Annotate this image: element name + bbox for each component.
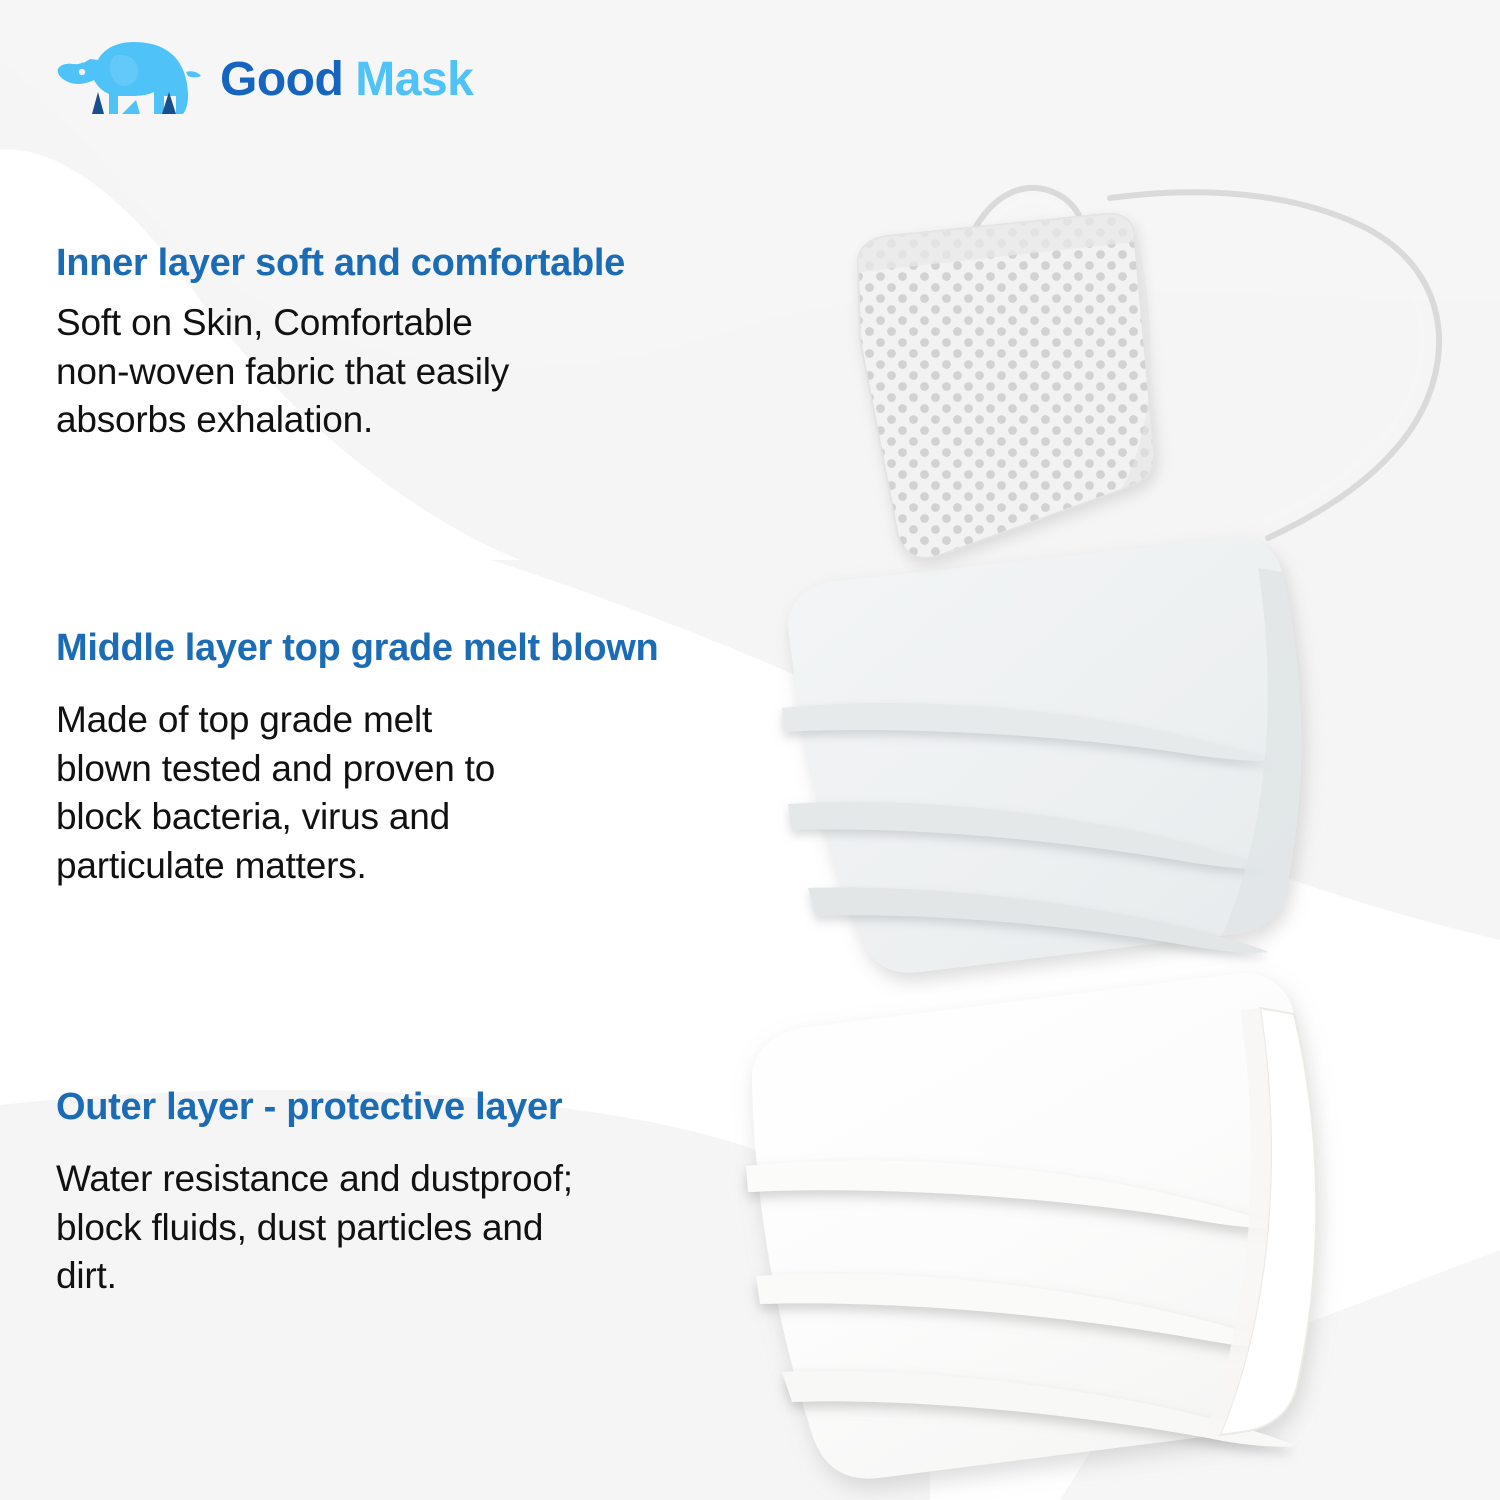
body-line: Water resistance and dustproof; [56,1155,696,1204]
section-body-inner: Soft on Skin, Comfortable non-woven fabr… [56,299,696,445]
outer-layer-mask [700,960,1400,1500]
inner-layer-mask [820,150,1500,620]
outer-mask-side-strip [1220,1008,1316,1435]
body-line: absorbs exhalation. [56,396,696,445]
bg-white-band [0,460,1500,1500]
section-body-outer: Water resistance and dustproof; block fl… [56,1155,696,1301]
inner-mask-top-edge [858,214,1134,272]
outer-mask-pleat-3 [782,1371,1296,1447]
elephant-icon [52,34,202,126]
inner-mask-side-panel [1120,232,1154,491]
infographic-page: GoodMask [0,0,1500,1500]
section-title-outer: Outer layer - protective layer [56,1087,776,1129]
ear-loop-right-outer [1110,192,1439,538]
body-line: block bacteria, virus and [56,793,696,842]
middle-layer-mask [760,520,1400,1040]
section-title-inner: Inner layer soft and comfortable [56,243,776,285]
section-body-middle: Made of top grade melt blown tested and … [56,696,696,891]
body-line: Soft on Skin, Comfortable [56,299,696,348]
outer-mask-side-strip-shade [1204,1008,1271,1437]
section-inner-layer: Inner layer soft and comfortable Soft on… [56,243,776,445]
brand-name-secondary: Mask [355,53,473,106]
outer-mask-pleat-2 [756,1273,1298,1348]
middle-mask-pleat-2 [788,802,1270,869]
ear-loop-top-inner [980,200,1073,258]
body-line: Made of top grade melt [56,696,696,745]
section-outer-layer: Outer layer - protective layer Water res… [56,1087,776,1301]
ear-loop-right-inner [1112,201,1422,522]
body-line: block fluids, dust particles and [56,1204,696,1253]
middle-mask-pleat-3 [808,887,1268,952]
brand-logo: GoodMask [52,34,473,126]
ear-loop-top-outer [970,188,1082,258]
body-line: blown tested and proven to [56,745,696,794]
body-line: dirt. [56,1252,696,1301]
section-title-middle: Middle layer top grade melt blown [56,628,776,670]
middle-mask-side-band [1222,568,1301,936]
inner-mask-body [858,214,1154,558]
middle-mask-pleat-1 [782,703,1272,761]
body-line: non-woven fabric that easily [56,348,696,397]
middle-mask-body [788,538,1301,973]
outer-mask-pleat-1 [746,1160,1292,1228]
bg-gray-bottom-right [1060,1250,1500,1500]
body-line: particulate matters. [56,842,696,891]
outer-mask-body [752,973,1316,1478]
brand-name-primary: Good [220,53,343,106]
brand-name: GoodMask [220,56,473,104]
section-middle-layer: Middle layer top grade melt blown Made o… [56,628,776,891]
